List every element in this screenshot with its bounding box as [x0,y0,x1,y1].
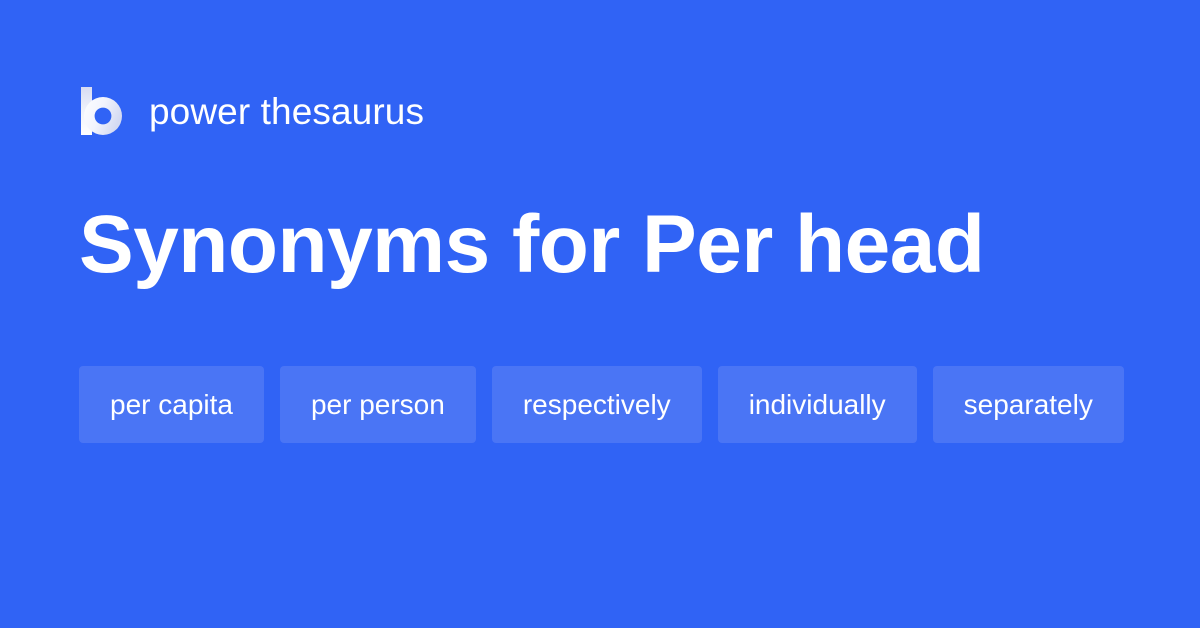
synonym-chip[interactable]: per person [280,366,476,443]
brand-header[interactable]: power thesaurus [79,84,424,138]
synonym-chip[interactable]: separately [933,366,1124,443]
brand-name: power thesaurus [149,93,424,130]
synonym-chip[interactable]: per capita [79,366,264,443]
synonym-chip[interactable]: individually [718,366,917,443]
power-thesaurus-b-logo-icon [79,87,123,135]
page-title: Synonyms for Per head [79,198,984,292]
synonym-chip[interactable]: respectively [492,366,702,443]
synonyms-share-card: power thesaurus Synonyms for Per head pe… [0,0,1200,628]
synonyms-list: per capita per person respectively indiv… [79,366,1129,443]
